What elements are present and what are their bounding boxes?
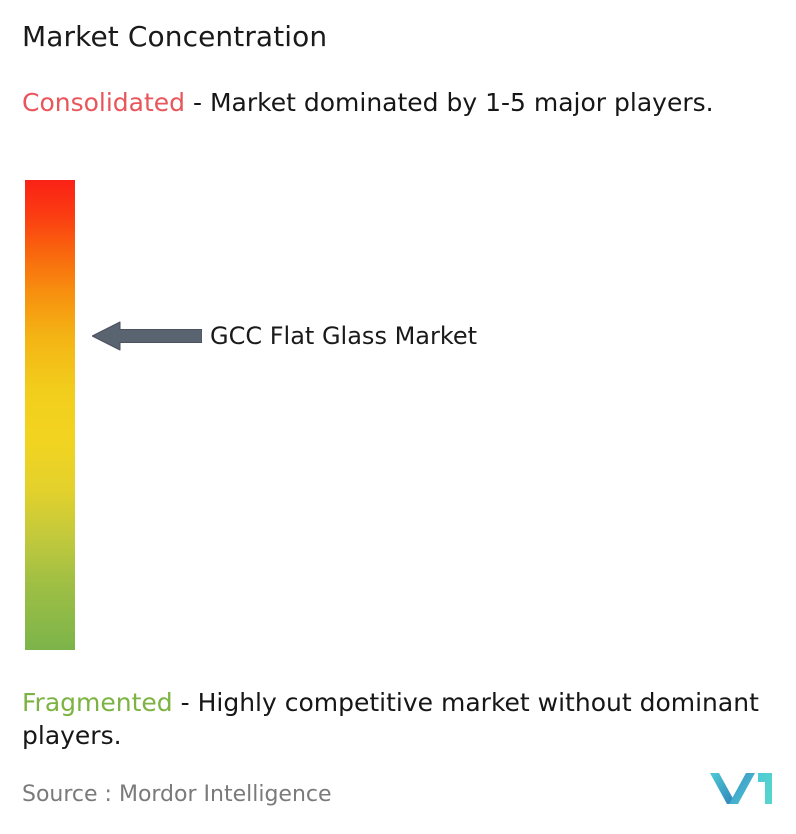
fragmented-keyword: Fragmented: [22, 688, 173, 717]
market-concentration-figure: Market Concentration Consolidated - Mark…: [0, 0, 796, 834]
consolidated-description: - Market dominated by 1-5 major players.: [185, 88, 714, 117]
consolidated-keyword: Consolidated: [22, 88, 185, 117]
fragmented-caption: Fragmented - Highly competitive market w…: [22, 686, 792, 752]
brand-mark-icon: [710, 770, 774, 810]
concentration-scale-bar: [25, 180, 75, 650]
mordor-intelligence-logo: [710, 770, 774, 810]
market-pointer-label: GCC Flat Glass Market: [210, 322, 477, 350]
consolidated-caption: Consolidated - Market dominated by 1-5 m…: [22, 86, 782, 119]
market-pointer-arrow: [92, 320, 202, 352]
source-attribution: Source : Mordor Intelligence: [22, 782, 332, 807]
page-title: Market Concentration: [22, 20, 327, 53]
left-arrow-icon: [92, 320, 202, 352]
